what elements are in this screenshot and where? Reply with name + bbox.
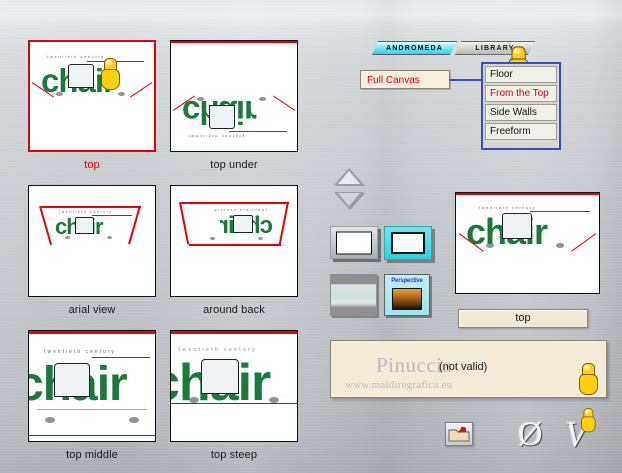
preset-label: top steep: [170, 449, 298, 461]
pointing-hand-icon: [578, 363, 598, 397]
triangle-up-icon[interactable]: [334, 168, 364, 185]
preset-artwork: twentieth century chair · · · · ·: [29, 186, 155, 296]
preset-thumb-arial-view[interactable]: twentieth century chair · · · · ·: [28, 185, 156, 297]
pointing-hand-icon: [100, 58, 120, 92]
preset-item-top-middle[interactable]: twentieth century chair · · · · · · top …: [28, 330, 156, 461]
field-menu-connector: [449, 79, 485, 81]
preset-label: top middle: [28, 449, 156, 461]
preset-artwork: twentieth century chair · · · · · ·: [171, 41, 297, 151]
preset-item-arial-view[interactable]: twentieth century chair · · · · · arial …: [28, 185, 156, 316]
preset-item-top-steep[interactable]: twentieth century chair · · · · · · top …: [170, 330, 298, 461]
preview-panel: twentieth century chair · · · · · ·: [455, 192, 600, 294]
preset-thumb-top-steep[interactable]: twentieth century chair · · · · · ·: [170, 330, 298, 442]
menu-item-floor[interactable]: Floor: [485, 66, 557, 83]
preset-item-around-back[interactable]: twentieth century chair · · · · · around…: [170, 185, 298, 316]
preset-item-top-under[interactable]: twentieth century chair · · · · · · top …: [170, 40, 298, 171]
preview-artwork: twentieth century chair · · · · · ·: [456, 193, 599, 293]
tab-andromeda[interactable]: ANDROMEDA: [372, 41, 457, 55]
full-rectangle-mode-button[interactable]: [384, 226, 432, 260]
menu-item-label: From the Top: [490, 88, 549, 99]
artwork-kicker: twentieth century: [47, 54, 144, 59]
perspective-mode-label: Perspective: [385, 278, 429, 284]
folder-open-arrow-icon: [446, 423, 472, 445]
status-badge: (not valid): [439, 361, 487, 373]
triangle-down-icon[interactable]: [334, 192, 364, 209]
preset-label: around back: [170, 304, 298, 316]
full-canvas-label: Full Canvas: [367, 75, 420, 86]
menu-item-side-walls[interactable]: Side Walls: [485, 104, 557, 121]
menu-item-label: Freeform: [490, 126, 531, 137]
flat-rectangle-mode-button[interactable]: [330, 226, 378, 259]
preset-label: top: [28, 159, 156, 171]
menu-item-freeform[interactable]: Freeform: [485, 123, 557, 140]
open-preset-button[interactable]: [445, 422, 473, 446]
menu-item-label: Side Walls: [490, 107, 537, 118]
surface-menu: Floor From the Top Side Walls Freeform: [481, 62, 561, 150]
menu-item-from-the-top[interactable]: From the Top: [485, 85, 557, 102]
preset-item-top[interactable]: twentieth century chair · · · · · · top: [28, 40, 156, 171]
preset-thumb-around-back[interactable]: twentieth century chair · · · · ·: [170, 185, 298, 297]
perspective-mode-button[interactable]: Perspective: [384, 274, 430, 316]
preset-name-value: top: [515, 312, 530, 324]
cancel-button[interactable]: Ø: [518, 418, 543, 452]
preset-label: arial view: [28, 304, 156, 316]
preset-label: top under: [170, 159, 298, 171]
full-canvas-field[interactable]: Full Canvas: [360, 70, 450, 89]
info-panel: Pinuccia (not valid) www.maidiregrafica.…: [330, 340, 607, 398]
andromeda-perspective-window: twentieth century chair · · · · · · top …: [0, 0, 622, 473]
preset-thumb-top-middle[interactable]: twentieth century chair · · · · · ·: [28, 330, 156, 442]
tab-label: ANDROMEDA: [386, 45, 443, 52]
site-url: www.maidiregrafica.eu: [345, 379, 452, 391]
null-symbol-icon: Ø: [518, 416, 543, 453]
texture-preview-mode-button[interactable]: [330, 274, 377, 316]
preset-artwork: twentieth century chair · · · · · ·: [30, 42, 154, 150]
small-rectangle-icon: [336, 231, 372, 254]
preset-artwork: twentieth century chair · · · · · ·: [171, 331, 297, 441]
preset-thumb-top-under[interactable]: twentieth century chair · · · · · ·: [170, 40, 298, 152]
large-rectangle-icon: [391, 232, 425, 254]
preset-name-field[interactable]: top: [458, 309, 588, 328]
pointing-hand-icon: [581, 408, 596, 434]
perspective-image-icon: [392, 288, 422, 310]
preset-artwork: twentieth century chair · · · · · ·: [29, 331, 155, 441]
menu-item-label: Floor: [490, 69, 513, 80]
preset-thumb-top[interactable]: twentieth century chair · · · · · ·: [28, 40, 156, 152]
